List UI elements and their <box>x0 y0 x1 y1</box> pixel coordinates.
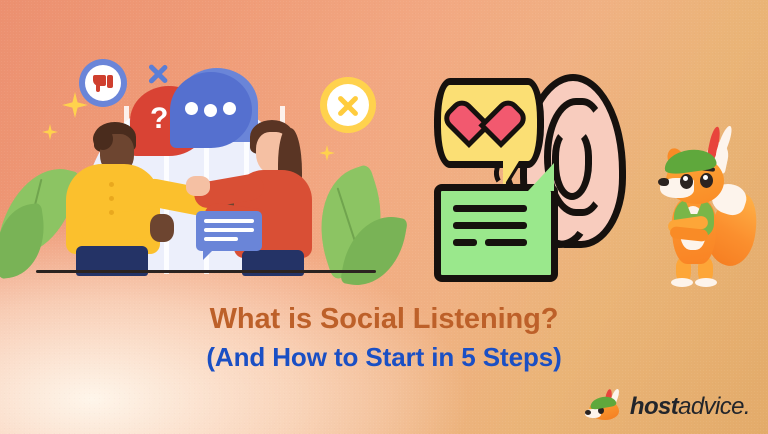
sparkle-icon <box>42 124 58 140</box>
bubble-dot <box>223 102 236 115</box>
thumbs-down-glyph <box>93 75 113 91</box>
person-left-hand2 <box>150 214 174 242</box>
heart-speech-bubble-icon <box>434 78 544 168</box>
page-subtitle: (And How to Start in 5 Steps) <box>0 342 768 372</box>
fox-eye <box>700 173 713 188</box>
logo-host: host <box>630 393 678 420</box>
heart-icon <box>468 104 510 142</box>
fox-eye <box>680 174 693 189</box>
x-circle-inner-disc <box>327 84 369 126</box>
fox-head-icon <box>585 392 623 422</box>
page-title: What is Social Listening? <box>0 302 768 336</box>
thumbs-down-badge-icon <box>79 59 127 107</box>
chat-message-bubble-icon <box>196 211 262 251</box>
x-mark-blue-icon <box>146 62 170 86</box>
bubble-dot <box>185 102 198 115</box>
fox-foot <box>695 278 717 287</box>
fox-foot <box>671 278 693 287</box>
x-mark-yellow-circle-icon <box>320 77 376 133</box>
logo-wordmark: hostadvice. <box>630 395 750 419</box>
badge-inner-disc <box>85 65 121 101</box>
sparkle-icon <box>319 145 335 161</box>
conversation-illustration: ? <box>28 46 380 281</box>
text-speech-bubble-icon <box>434 184 558 282</box>
banner: ? <box>0 0 768 434</box>
hostadvice-logo[interactable]: hostadvice. <box>585 392 750 422</box>
question-mark-glyph: ? <box>150 104 168 134</box>
headline-block: What is Social Listening? (And How to St… <box>0 302 768 372</box>
fox-nose <box>658 178 669 186</box>
logo-advice: advice. <box>678 393 750 420</box>
bubble-dot <box>204 104 217 117</box>
scene-ground-line <box>36 270 376 273</box>
person-right-hand <box>186 176 210 196</box>
listening-ear-illustration <box>432 72 618 280</box>
hostadvice-fox-mascot <box>650 134 752 286</box>
